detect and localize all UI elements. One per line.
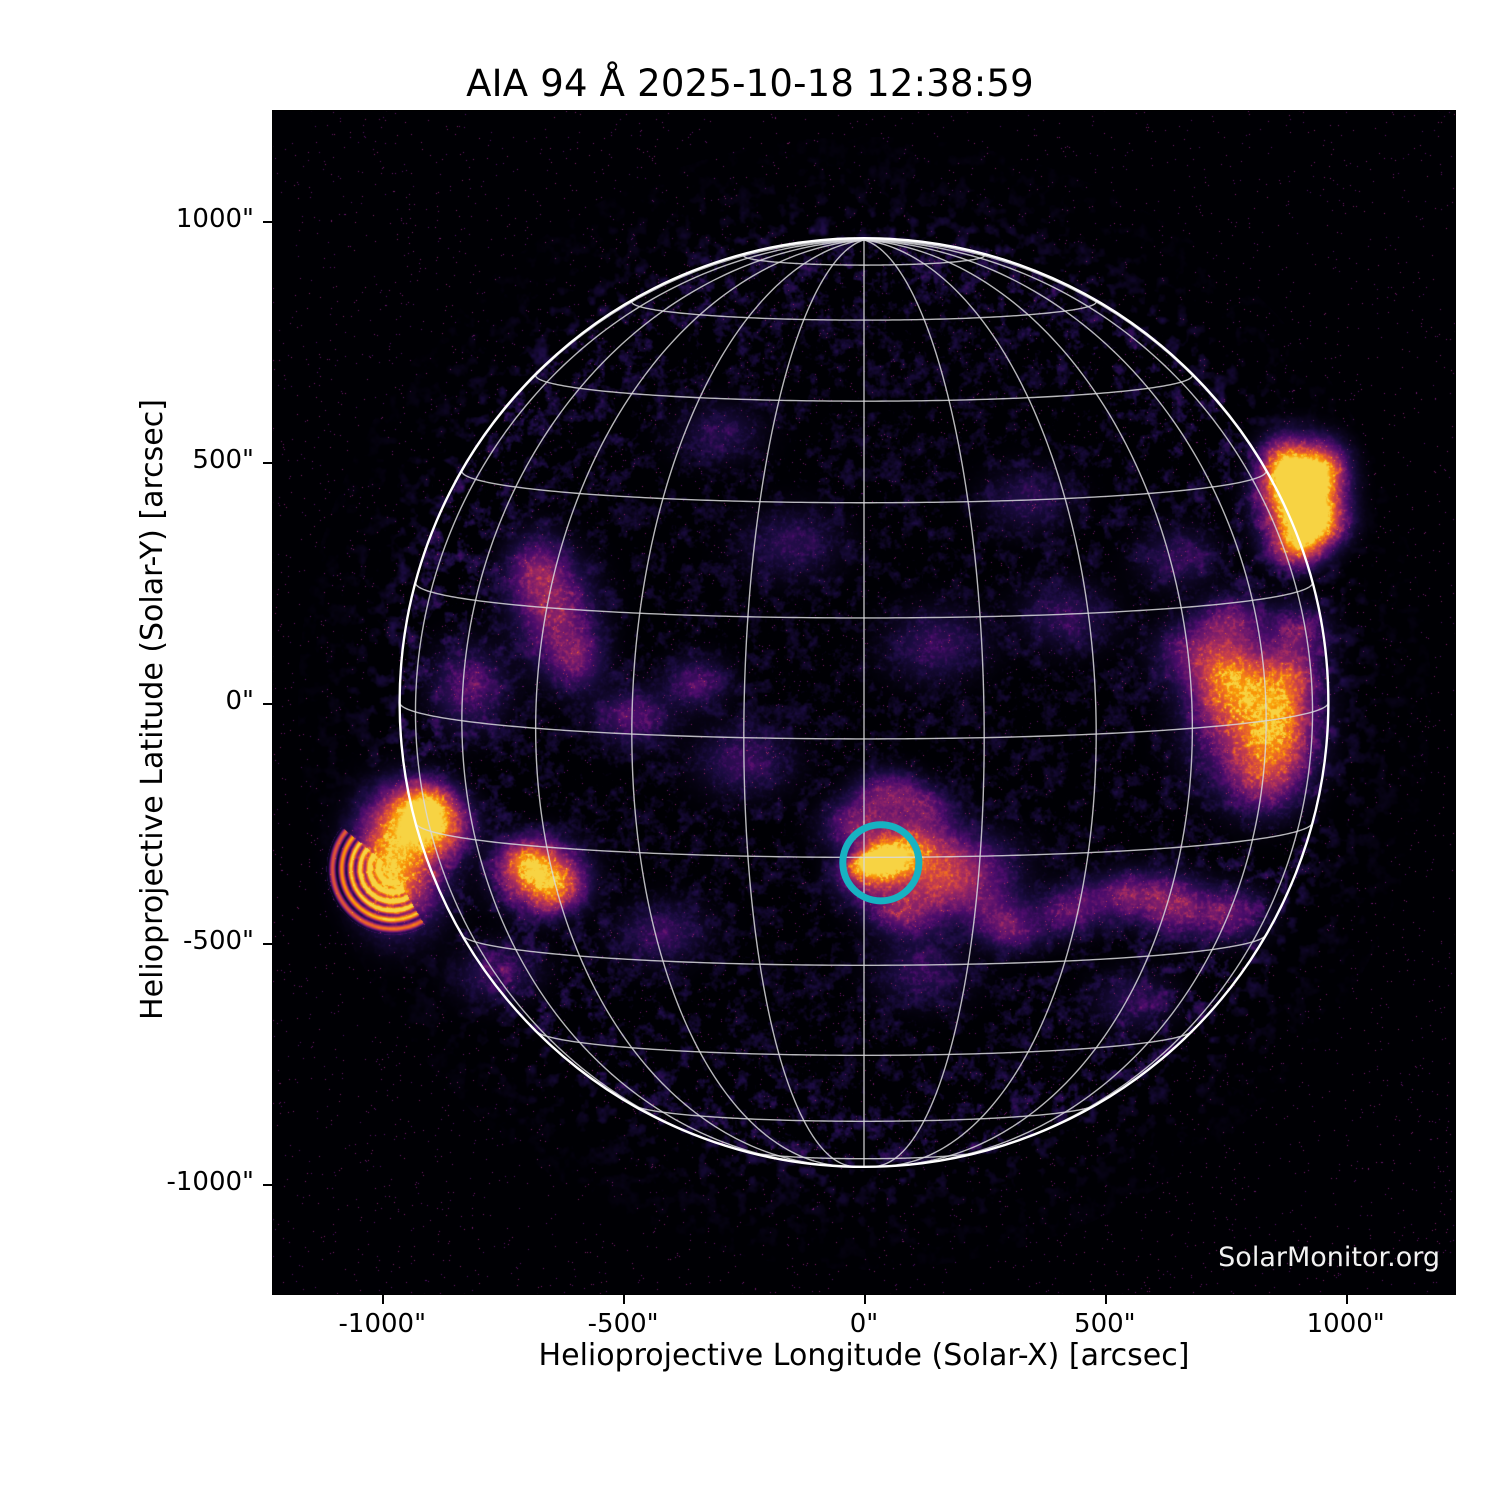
x-tick-mark: [1105, 1295, 1107, 1304]
x-axis-title: Helioprojective Longitude (Solar-X) [arc…: [272, 1338, 1456, 1373]
x-tick-label: 0": [754, 1309, 974, 1339]
grid-line: [864, 240, 1192, 1165]
grid-line: [632, 240, 864, 1166]
watermark-label: SolarMonitor.org: [1218, 1242, 1440, 1273]
x-tick-mark: [864, 1295, 866, 1304]
grid-line: [744, 240, 864, 1166]
x-tick-mark: [623, 1295, 625, 1304]
y-tick-mark: [263, 943, 272, 945]
x-tick-mark: [1346, 1295, 1348, 1304]
y-tick-mark: [263, 221, 272, 223]
solar-image-figure: AIA 94 Å 2025-10-18 12:38:59 1000"500"0"…: [0, 0, 1500, 1500]
plot-area[interactable]: SolarMonitor.org: [272, 110, 1456, 1295]
grid-line: [864, 240, 1266, 1162]
page-title: AIA 94 Å 2025-10-18 12:38:59: [0, 62, 1500, 105]
active-region-marker[interactable]: [843, 825, 919, 901]
grid-line: [864, 240, 984, 1166]
y-tick-mark: [263, 462, 272, 464]
y-axis-title: Helioprojective Latitude (Solar-Y) [arcs…: [135, 117, 170, 1302]
heliographic-grid: [400, 239, 1329, 1167]
grid-line: [864, 240, 1313, 1148]
x-tick-label: -1000": [272, 1309, 492, 1339]
x-tick-label: -500": [513, 1309, 733, 1339]
y-tick-mark: [263, 703, 272, 705]
grid-line: [462, 240, 864, 1162]
x-tick-label: 1000": [1236, 1309, 1456, 1339]
grid-line: [415, 240, 864, 1148]
x-tick-mark: [382, 1295, 384, 1304]
active-region-marker[interactable]: [843, 825, 919, 901]
y-tick-mark: [263, 1184, 272, 1186]
grid-overlay: [272, 110, 1456, 1295]
grid-line: [536, 240, 864, 1165]
x-tick-label: 500": [995, 1309, 1215, 1339]
grid-line: [864, 240, 1096, 1166]
